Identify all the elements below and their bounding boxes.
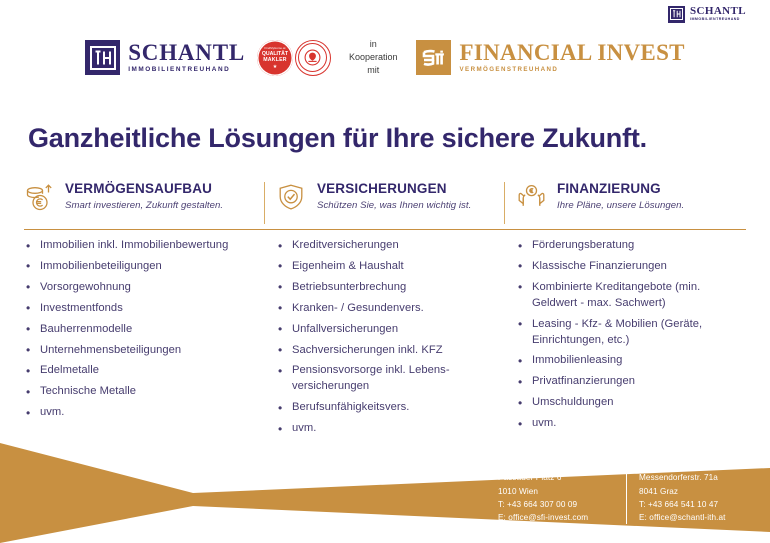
seal-line2: MAKLER [263, 57, 286, 63]
column-title: VERSICHERUNGEN [317, 182, 471, 197]
immobilientreuhaender-seal-icon [295, 40, 331, 76]
office-name: Office Wien: [498, 458, 626, 471]
bullet-list: Förderungsberatung Klassische Finanzieru… [516, 238, 734, 432]
office-street: Messendorferstr. 71a [639, 471, 726, 484]
coins-euro-growth-icon [24, 183, 56, 213]
list-item: Technische Metalle [24, 384, 254, 400]
office-city: 8041 Graz [639, 485, 726, 498]
list-finanzierung: Förderungsberatung Klassische Finanzieru… [504, 238, 744, 442]
list-item: Kranken- / Gesundenvers. [276, 301, 494, 317]
office-email[interactable]: E: office@schantl-ith.at [639, 511, 726, 524]
schantl-logo: SCHANTL IMMOBILIENTREUHAND [85, 40, 245, 75]
seal-top-text: FindMyHome.at [264, 46, 285, 50]
schantl-logo-tagline: IMMOBILIENTREUHAND [128, 67, 245, 73]
list-item: Bauherrenmodelle [24, 322, 254, 338]
list-item: Sachversicherungen inkl. KFZ [276, 343, 494, 359]
list-item: Unternehmensbeteiligungen [24, 343, 254, 359]
list-item: uvm. [24, 405, 254, 421]
list-item: Kreditversicherungen [276, 238, 494, 254]
list-vermoegensaufbau: Immobilien inkl. Immobilienbewertung Imm… [24, 238, 264, 442]
financial-invest-name: FINANCIAL INVEST [460, 41, 685, 64]
list-item: Klassische Finanzierungen [516, 259, 734, 275]
sfi-monogram-icon [416, 40, 451, 75]
office-city: 1010 Wien [498, 485, 626, 498]
column-finanzierung: FINANZIERUNG Ihre Pläne, unsere Lösungen… [504, 182, 744, 213]
office-street: Passauer Platz 6 [498, 471, 626, 484]
office-graz: Office Graz: Messendorferstr. 71a 8041 G… [626, 458, 726, 524]
office-email[interactable]: E: office@sfi-invest.com [498, 511, 626, 524]
office-phone[interactable]: T: +43 664 307 00 09 [498, 498, 626, 511]
financial-invest-tagline: VERMÖGENSTREUHAND [460, 67, 685, 73]
cooperation-label: in Kooperation mit [349, 38, 398, 77]
bullet-list: Kreditversicherungen Eigenheim & Haushal… [276, 238, 494, 437]
cooperation-line-1: in [349, 38, 398, 51]
office-name: Office Graz: [639, 458, 726, 471]
list-item: Vorsorgewohnung [24, 280, 254, 296]
list-item: Privatfinanzierungen [516, 374, 734, 390]
column-subtitle: Smart investieren, Zukunft gestalten. [65, 201, 223, 212]
list-item: Unfallversicherungen [276, 322, 494, 338]
list-item: Berufsunfähigkeitsvers. [276, 400, 494, 416]
office-phone[interactable]: T: +43 664 541 10 47 [639, 498, 726, 511]
schantl-logo-name: SCHANTL [128, 41, 245, 64]
seal-star: ★ [273, 64, 277, 70]
list-item: Immobilienbeteiligungen [24, 259, 254, 275]
service-column-headers: VERMÖGENSAUFBAU Smart investieren, Zukun… [24, 182, 746, 213]
qualitaetsmakler-seal-icon: FindMyHome.at QUALITÄT MAKLER ★ [257, 40, 293, 76]
ith-monogram-icon [668, 6, 685, 23]
header-logo-strip: SCHANTL IMMOBILIENTREUHAND FindMyHome.at… [0, 30, 770, 85]
column-vermoegensaufbau: VERMÖGENSAUFBAU Smart investieren, Zukun… [24, 182, 264, 213]
top-right-schantl-logo: SCHANTL IMMOBILIENTREUHAND [668, 6, 746, 23]
list-item: Förderungsberatung [516, 238, 734, 254]
footer-offices: Office Wien: Passauer Platz 6 1010 Wien … [498, 458, 770, 524]
ith-monogram-icon [85, 40, 120, 75]
financial-invest-logo: FINANCIAL INVEST VERMÖGENSTREUHAND [416, 40, 685, 75]
column-title: VERMÖGENSAUFBAU [65, 182, 223, 197]
top-bar: SCHANTL IMMOBILIENTREUHAND [0, 0, 770, 28]
bullet-list: Immobilien inkl. Immobilienbewertung Imm… [24, 238, 254, 421]
column-subtitle: Schützen Sie, was Ihnen wichtig ist. [317, 201, 471, 212]
list-item: Kombinierte Kreditangebote (min. Geldwer… [516, 280, 734, 312]
list-item: Immobilienleasing [516, 353, 734, 369]
column-subtitle: Ihre Pläne, unsere Lösungen. [557, 201, 684, 212]
list-item: Betriebsunterbrechung [276, 280, 494, 296]
top-right-logo-tagline: IMMOBILIENTREUHAND [690, 18, 746, 22]
office-wien: Office Wien: Passauer Platz 6 1010 Wien … [498, 458, 626, 524]
page-headline: Ganzheitliche Lösungen für Ihre sichere … [28, 123, 742, 154]
hands-coin-icon [516, 183, 548, 213]
list-versicherungen: Kreditversicherungen Eigenheim & Haushal… [264, 238, 504, 442]
list-item: Eigenheim & Haushalt [276, 259, 494, 275]
list-item: Pensionsvorsorge inkl. Lebens-versicheru… [276, 363, 494, 395]
column-title: FINANZIERUNG [557, 182, 684, 197]
list-item: Edelmetalle [24, 363, 254, 379]
list-item: Umschuldungen [516, 395, 734, 411]
list-item: Leasing - Kfz- & Mobilien (Geräte, Einri… [516, 317, 734, 349]
gold-divider-rule [24, 229, 746, 230]
list-item: Investmentfonds [24, 301, 254, 317]
column-versicherungen: VERSICHERUNGEN Schützen Sie, was Ihnen w… [264, 182, 504, 213]
list-item: Immobilien inkl. Immobilienbewertung [24, 238, 254, 254]
cooperation-line-2: Kooperation [349, 51, 398, 64]
top-right-logo-name: SCHANTL [690, 6, 746, 17]
cooperation-line-3: mit [349, 64, 398, 77]
service-lists: Immobilien inkl. Immobilienbewertung Imm… [24, 238, 746, 442]
shield-check-icon [276, 183, 308, 213]
certification-seals: FindMyHome.at QUALITÄT MAKLER ★ [257, 40, 331, 76]
